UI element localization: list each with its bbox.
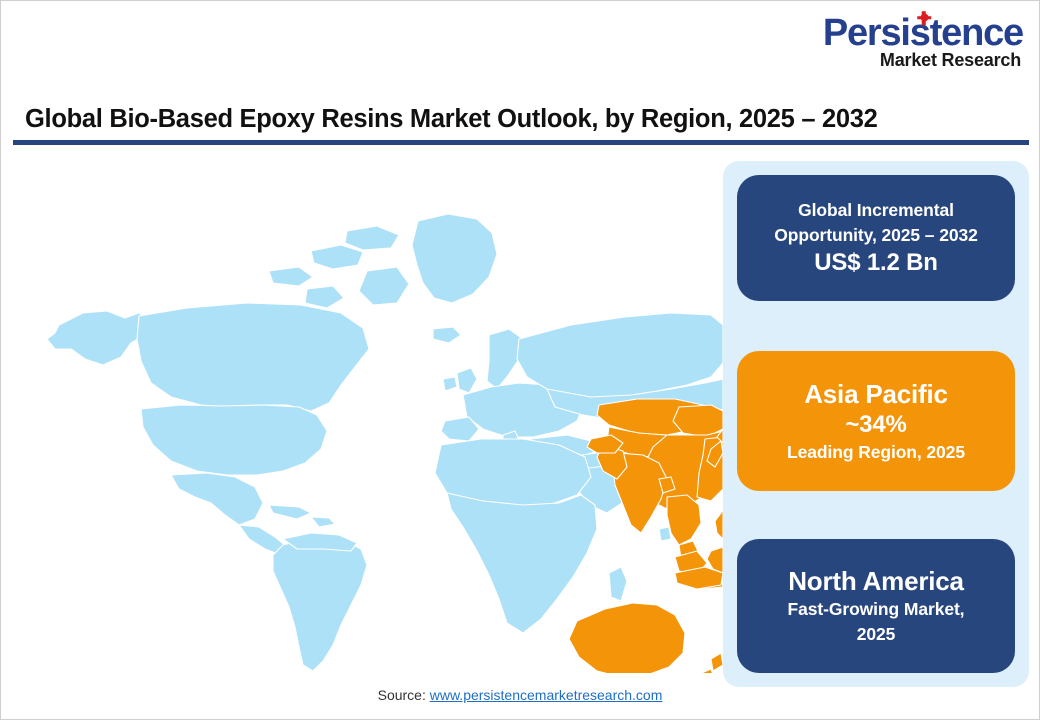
stats-panel: Global Incremental Opportunity, 2025 – 2… <box>723 161 1029 687</box>
stat-card-1-caption: Leading Region, 2025 <box>787 440 965 465</box>
stat-card-north-america: North America Fast-Growing Market, 2025 <box>737 539 1015 673</box>
stat-card-1-value: ~34% <box>845 410 906 440</box>
map-region-united-states <box>141 405 327 475</box>
map-region-south-america <box>273 539 367 671</box>
map-region-baffin <box>359 267 409 305</box>
source-link[interactable]: www.persistencemarketresearch.com <box>430 687 663 703</box>
map-region-uk <box>457 368 477 393</box>
map-region-australia <box>569 603 685 673</box>
source-footer: Source: www.persistencemarketresearch.co… <box>1 687 1039 703</box>
company-logo: Persistence Market Research <box>803 13 1023 79</box>
page-title: Global Bio-Based Epoxy Resins Market Out… <box>25 105 878 134</box>
map-region-canada <box>137 303 369 411</box>
map-region-ireland <box>443 377 457 391</box>
logo-wordmark: Persistence <box>823 13 1023 53</box>
map-region-africa-main <box>447 493 597 633</box>
map-region-new-zealand-north <box>711 653 723 671</box>
map-region-greenland <box>412 214 497 303</box>
infographic-page: Persistence Market Research Global Bio-B… <box>0 0 1040 720</box>
map-region-alaska <box>47 311 151 365</box>
map-region-philippines <box>715 509 723 539</box>
stat-card-2-caption: Fast-Growing Market, <box>788 597 965 622</box>
map-region-arctic-islands-2 <box>345 226 399 250</box>
stat-card-0-line2: Opportunity, 2025 – 2032 <box>774 223 977 248</box>
map-region-iceland <box>433 327 461 343</box>
world-map <box>11 153 723 673</box>
stat-card-0-value: US$ 1.2 Bn <box>814 248 937 278</box>
red-gear-dot-icon <box>919 12 930 23</box>
stat-card-asia-pacific: Asia Pacific ~34% Leading Region, 2025 <box>737 351 1015 491</box>
stat-card-2-year: 2025 <box>857 622 896 647</box>
map-region-mexico <box>171 473 263 525</box>
title-underline-rule <box>13 140 1029 145</box>
map-region-sri-lanka <box>659 527 671 541</box>
stat-card-1-region: Asia Pacific <box>804 378 948 410</box>
stat-card-global-incremental-opportunity: Global Incremental Opportunity, 2025 – 2… <box>737 175 1015 301</box>
map-region-hispaniola <box>311 517 335 527</box>
map-region-victoria-island <box>305 286 344 308</box>
stat-card-0-line1: Global Incremental <box>798 198 954 223</box>
source-label: Source: <box>378 687 430 703</box>
stat-card-2-region: North America <box>788 565 964 597</box>
world-map-svg <box>11 153 723 673</box>
map-region-madagascar <box>609 567 627 601</box>
map-region-arctic-islands <box>311 245 363 269</box>
map-region-arctic-islands-3 <box>269 267 313 286</box>
map-region-cuba <box>269 505 311 519</box>
map-region-indochina <box>667 495 701 545</box>
